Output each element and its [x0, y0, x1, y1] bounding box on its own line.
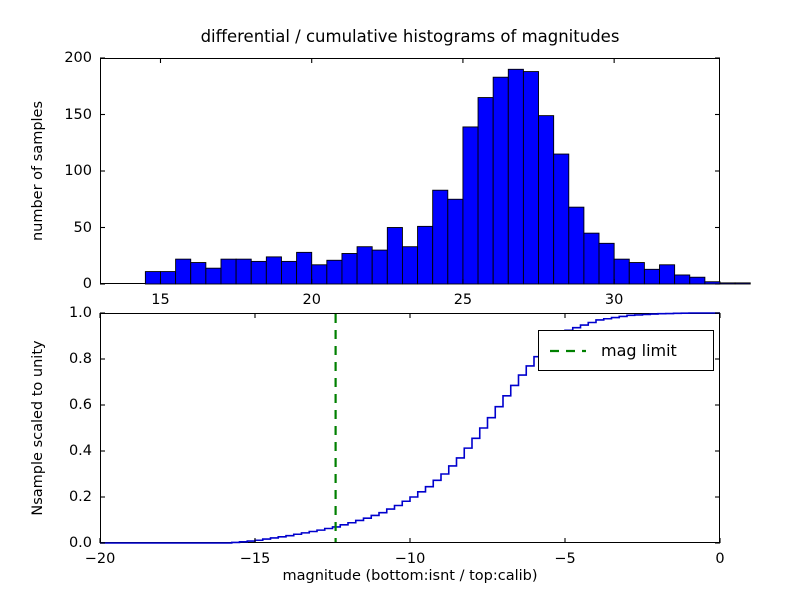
bottom-y-tick-label: 0.0 — [48, 535, 92, 551]
bottom-x-tick-label: −10 — [395, 551, 426, 567]
bottom-y-tick-label: 0.2 — [48, 489, 92, 505]
top-y-axis-label: number of samples — [30, 58, 46, 284]
top-y-tick-label: 150 — [48, 107, 92, 123]
bottom-y-tick-label: 0.8 — [48, 351, 92, 367]
top-y-tick-label: 50 — [48, 220, 92, 236]
bottom-y-tick-label: 0.6 — [48, 397, 92, 413]
bottom-x-tick-label: −15 — [240, 551, 271, 567]
top-y-tick-label: 0 — [48, 276, 92, 292]
top-y-tick-label: 100 — [48, 163, 92, 179]
top-x-tick-label: 30 — [605, 292, 623, 308]
legend: mag limit — [538, 330, 714, 371]
bottom-x-tick-label: 0 — [715, 551, 724, 567]
top-x-tick-label: 20 — [302, 292, 320, 308]
bottom-y-tick-label: 1.0 — [48, 305, 92, 321]
matplotlib-figure: differential / cumulative histograms of … — [0, 0, 800, 600]
top-y-tick-label: 200 — [48, 50, 92, 66]
bottom-x-tick-label: −5 — [554, 551, 575, 567]
top-x-tick-label: 25 — [454, 292, 472, 308]
bottom-y-axis-label: Nsample scaled to unity — [30, 313, 46, 543]
legend-entry-label: mag limit — [601, 341, 677, 360]
bottom-y-tick-label: 0.4 — [48, 443, 92, 459]
bottom-x-tick-label: −20 — [85, 551, 116, 567]
top-x-tick-label: 15 — [151, 292, 169, 308]
cumulative-histogram-plot — [0, 0, 800, 600]
mag-limit-dashed-line-icon — [549, 344, 587, 358]
bottom-x-axis-label: magnitude (bottom:isnt / top:calib) — [100, 568, 720, 584]
